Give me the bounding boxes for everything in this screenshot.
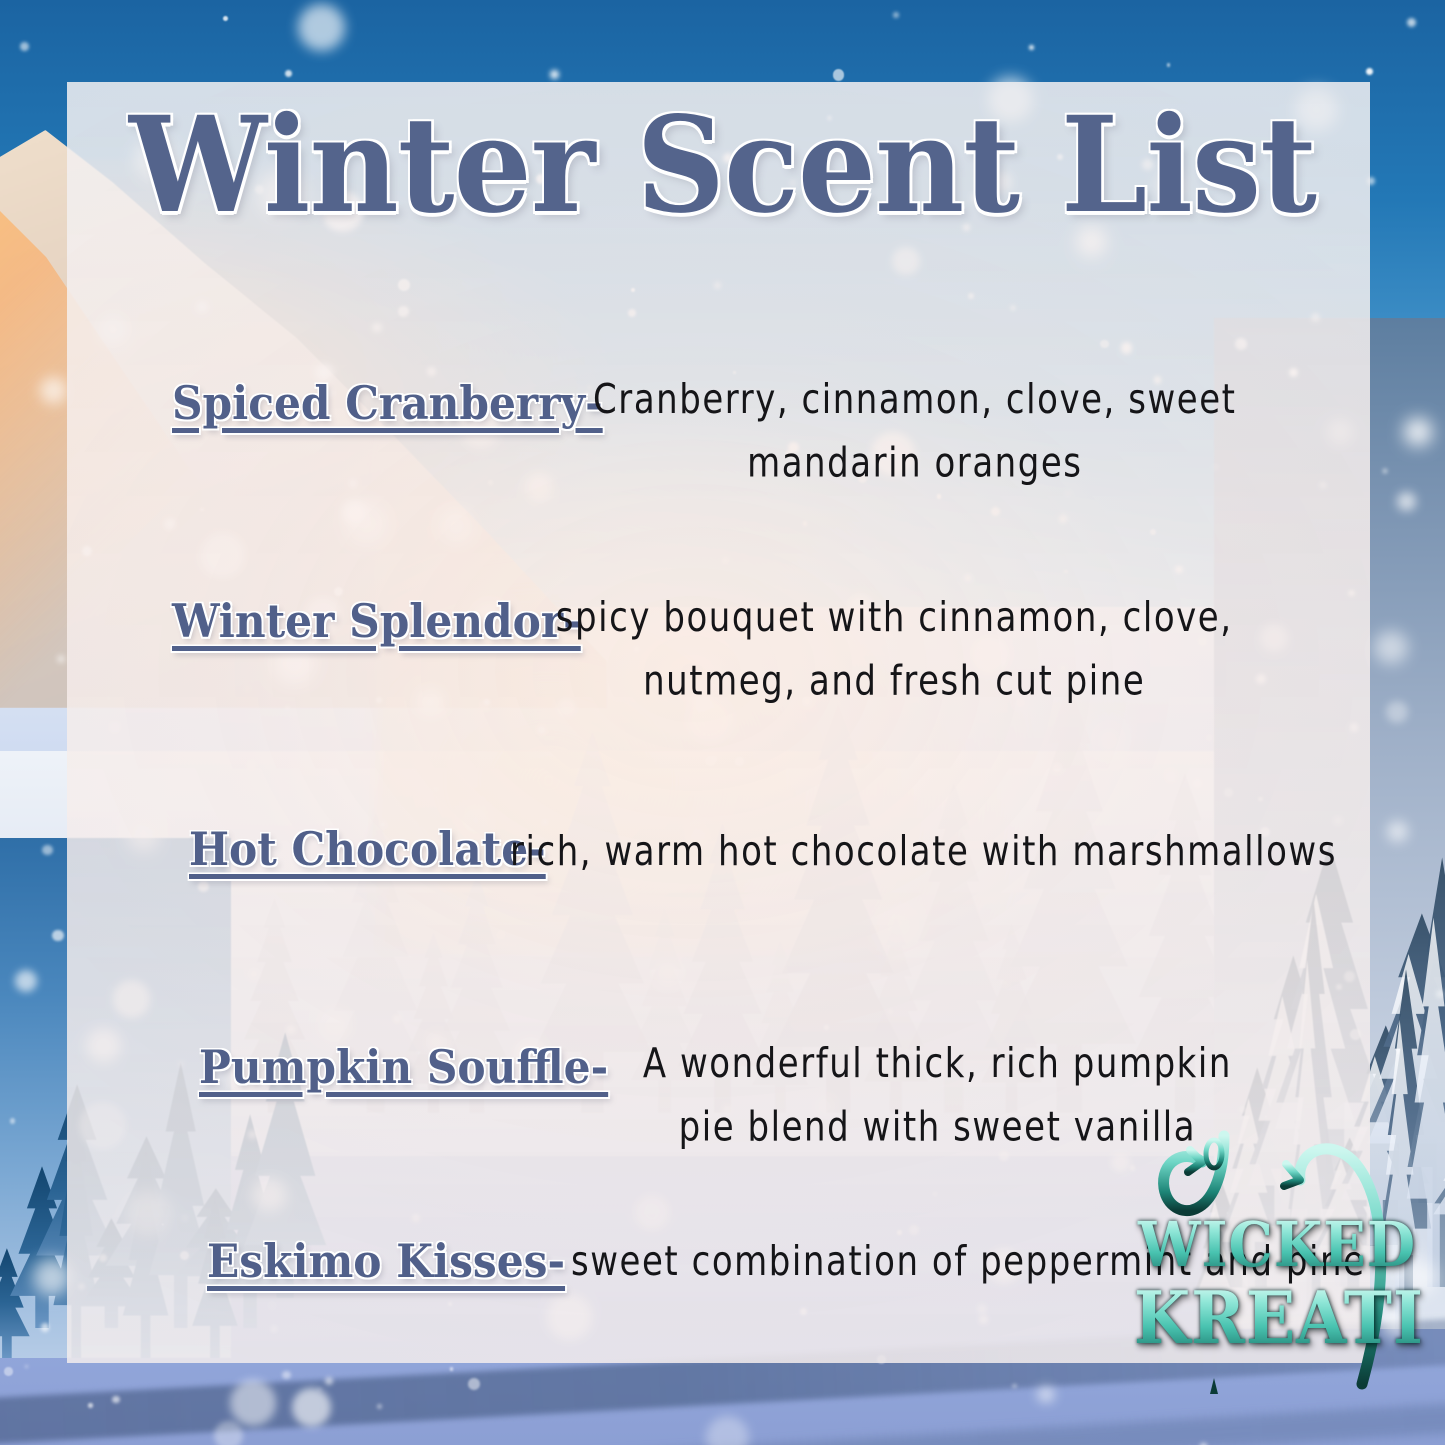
snowflake [33,1258,71,1296]
brand-logo: WICKED KREATIONS [1118,1128,1436,1396]
snowflake [1387,821,1408,842]
scent-name: Eskimo Kisses- [207,1238,565,1284]
scent-list-item: Spiced Cranberry- Cranberry, cinnamon, c… [67,330,1370,548]
snowflake [230,1380,276,1426]
snowflake [1012,1384,1016,1388]
winter-scent-list-graphic: Winter Scent List Spiced Cranberry- Cran… [0,0,1445,1445]
snowflake [450,1367,453,1370]
snowflake [88,1403,92,1407]
snowflake [833,69,845,81]
snowflake [1374,631,1407,664]
snowflake [285,70,292,77]
snowflake [298,4,345,51]
snowflake [1397,492,1416,511]
snowflake [1366,68,1373,75]
scent-description: spicy bouquet with cinnamon, clove, nutm… [545,586,1243,714]
scent-description: Cranberry, cinnamon, clove, sweet mandar… [585,368,1245,496]
snowflake [1386,701,1408,723]
snowflake [377,1404,382,1409]
scent-name: Hot Chocolate- [189,826,546,872]
snowflake [1383,469,1387,473]
snowflake [468,1378,480,1390]
snowflake [42,845,53,856]
logo-line-2: KREATIONS [1134,1282,1420,1354]
snowflake [112,1396,119,1403]
scent-list-item: Hot Chocolate- rich, warm hot chocolate … [67,766,1370,992]
snowflake [1407,18,1416,27]
snowflake [40,377,67,404]
scent-name: Winter Splendor- [172,598,581,644]
snowflake [282,1371,290,1379]
snowflake [1436,990,1444,998]
snowflake [20,42,29,51]
logo-line-1: WICKED [1134,1214,1420,1276]
snowflake [325,1377,333,1385]
snowflake [41,1323,50,1332]
page-title: Winter Scent List [51,100,1395,232]
scent-description: rich, warm hot chocolate with marshmallo… [510,820,1354,884]
snowflake [214,1421,243,1445]
snowflake [4,1367,12,1375]
snowflake [1038,1387,1054,1403]
scent-list-item: Winter Splendor- spicy bouquet with cinn… [67,548,1370,766]
snowflake [550,70,559,79]
snowflake [15,970,37,992]
snowflake [223,16,228,21]
snowflake [893,12,899,18]
scent-name: Pumpkin Souffle- [199,1044,608,1090]
scent-name: Spiced Cranberry- [172,380,603,426]
